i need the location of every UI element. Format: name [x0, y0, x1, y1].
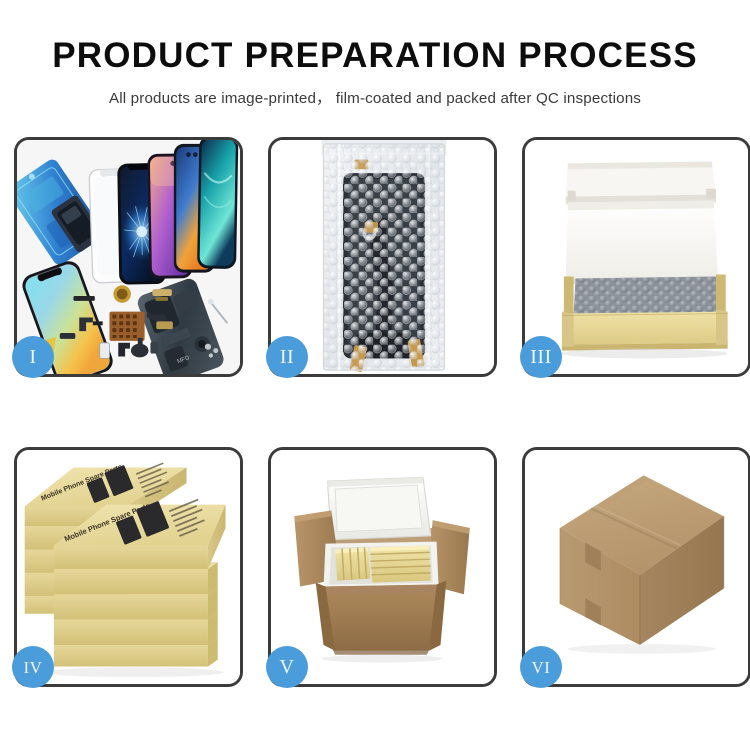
step-panel-5: V	[268, 447, 497, 687]
header: PRODUCT PREPARATION PROCESS All products…	[0, 0, 750, 108]
step-panel-6: VI	[522, 447, 750, 687]
step-badge-6: VI	[520, 646, 562, 688]
process-steps-grid: MFD	[14, 137, 737, 687]
step-panel-4: Mobile Phone Spare Parts	[14, 447, 243, 687]
bubble-wrapped-screen-photo	[271, 140, 494, 374]
stacked-boxes-photo: Mobile Phone Spare Parts	[17, 450, 240, 684]
step-panel-3: III	[522, 137, 750, 377]
step-panel-1: MFD	[14, 137, 243, 377]
page-subtitle: All products are image-printed， film-coa…	[0, 86, 750, 108]
step-badge-3: III	[520, 336, 562, 378]
step-badge-2: II	[266, 336, 308, 378]
step-badge-1: I	[12, 336, 54, 378]
step-badge-4: IV	[12, 646, 54, 688]
sealed-carton-photo	[525, 450, 748, 684]
carton-with-foam-photo	[271, 450, 494, 684]
phones-and-parts-photo: MFD	[17, 140, 240, 374]
open-yellow-box-photo	[525, 140, 748, 374]
step-badge-5: V	[266, 646, 308, 688]
step-panel-2: II	[268, 137, 497, 377]
page-title: PRODUCT PREPARATION PROCESS	[0, 38, 750, 73]
